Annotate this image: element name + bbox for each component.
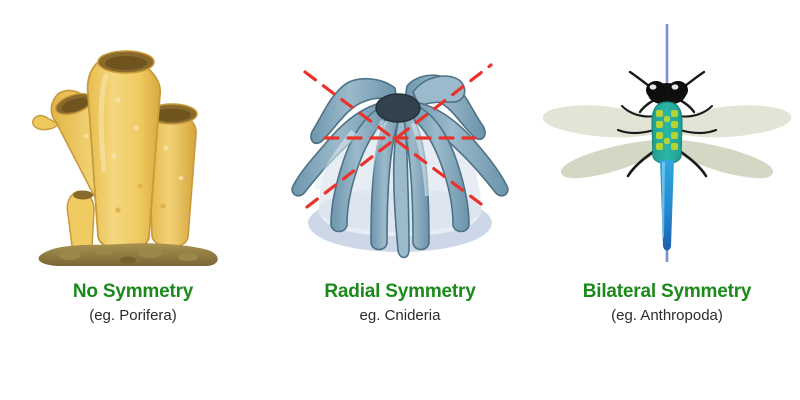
panel-title-no-symmetry: No Symmetry [0,281,266,303]
dragonfly-illustration [534,10,800,275]
dragonfly-svg [534,10,800,275]
symmetry-diagram: No Symmetry (eg. Porifera) [0,0,800,400]
panel-bilateral-symmetry: Bilateral Symmetry (eg. Anthropoda) [534,0,800,400]
panel-caption-bilateral: (eg. Anthropoda) [534,306,800,326]
label-group-bilateral: Bilateral Symmetry (eg. Anthropoda) [534,281,800,326]
sponge-tube-small [67,191,94,254]
sponge-tube-center [88,51,161,250]
anemone-illustration [267,10,533,275]
panel-radial-symmetry: Radial Symmetry eg. Cnideria [267,0,533,400]
sponge-svg [0,10,266,275]
sponge-substrate [39,243,218,266]
dragonfly-thorax [652,102,682,164]
sponge-illustration [0,10,266,275]
anemone-mouth [376,94,420,122]
panel-caption-radial: eg. Cnideria [267,306,533,326]
panel-no-symmetry: No Symmetry (eg. Porifera) [0,0,266,400]
anemone-svg [267,10,533,275]
label-group-no-symmetry: No Symmetry (eg. Porifera) [0,281,266,326]
label-group-radial: Radial Symmetry eg. Cnideria [267,281,533,326]
panel-title-bilateral: Bilateral Symmetry [534,281,800,303]
panel-title-radial: Radial Symmetry [267,281,533,303]
panel-caption-no-symmetry: (eg. Porifera) [0,306,266,326]
